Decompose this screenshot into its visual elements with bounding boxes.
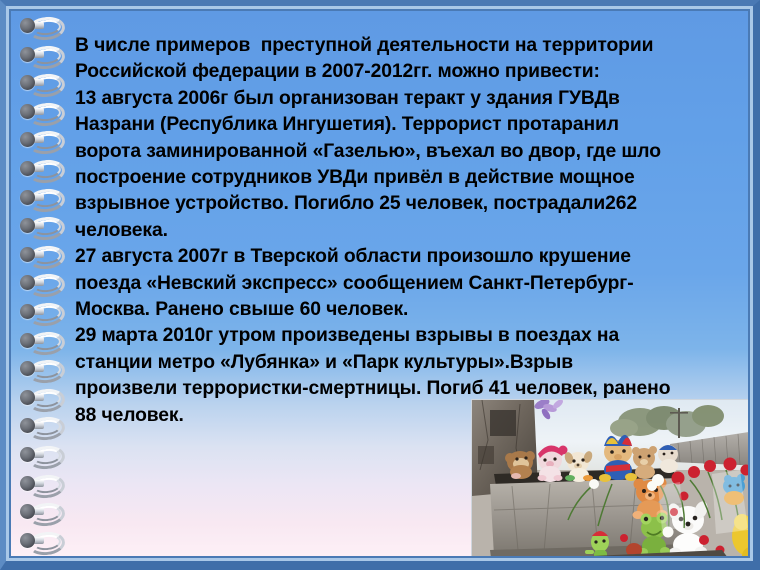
slide-body-text: В числе примеров преступной деятельности… <box>75 33 750 429</box>
spiral-ring-icon <box>20 131 60 148</box>
spiral-ring-icon <box>20 217 60 234</box>
spiral-ring-icon <box>20 303 60 320</box>
spiral-ring-icon <box>20 17 60 34</box>
spiral-ring-icon <box>20 274 60 291</box>
slide-page: В числе примеров преступной деятельности… <box>9 9 750 558</box>
spiral-ring-icon <box>20 417 60 434</box>
spiral-ring-icon <box>20 332 60 349</box>
spiral-ring-icon <box>20 532 60 549</box>
spiral-ring-icon <box>20 46 60 63</box>
spiral-ring-icon <box>20 189 60 206</box>
spiral-ring-icon <box>20 74 60 91</box>
spiral-ring-icon <box>20 360 60 377</box>
spiral-ring-icon <box>20 246 60 263</box>
spiral-ring-icon <box>20 446 60 463</box>
presentation-slide: В числе примеров преступной деятельности… <box>0 0 760 570</box>
spiral-ring-icon <box>20 503 60 520</box>
memorial-photo-image <box>472 400 750 558</box>
spiral-ring-icon <box>20 475 60 492</box>
spiral-ring-icon <box>20 160 60 177</box>
spiral-binding <box>11 11 63 556</box>
spiral-ring-icon <box>20 389 60 406</box>
spiral-ring-icon <box>20 103 60 120</box>
memorial-photo <box>471 399 750 558</box>
